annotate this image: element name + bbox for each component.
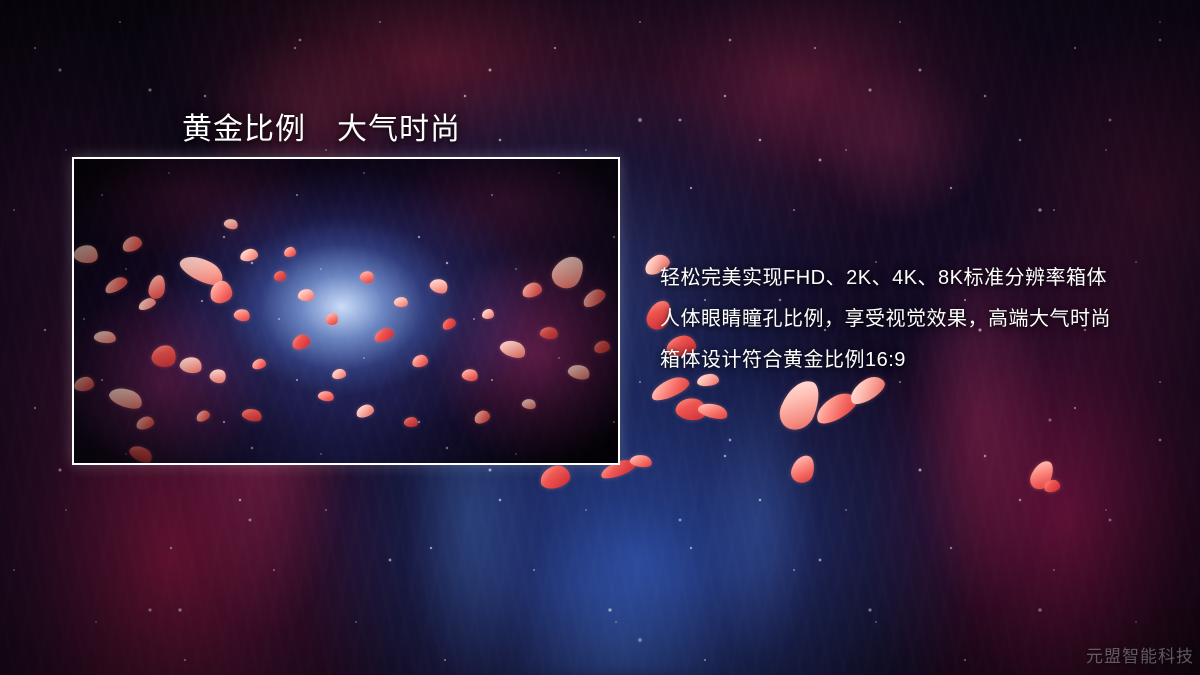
petal (538, 463, 572, 491)
body-line-3: 箱体设计符合黄金比例16:9 (660, 340, 1180, 381)
panel-vignette (74, 159, 618, 463)
petal (789, 453, 817, 485)
petal (774, 375, 825, 436)
company-watermark: 元盟智能科技 (1086, 642, 1194, 667)
presentation-slide: 黄金比例 大气时尚 轻松完美实现FHD、2K、4K、8K标准分辨率箱体 人体眼睛… (0, 0, 1200, 675)
panel-content (74, 159, 618, 463)
slide-title: 黄金比例 大气时尚 (182, 104, 461, 148)
body-line-1: 轻松完美实现FHD、2K、4K、8K标准分辨率箱体 (660, 258, 1180, 299)
display-panel-preview[interactable] (72, 157, 620, 465)
body-line-2: 人体眼睛瞳孔比例，享受视觉效果，高端大气时尚 (660, 299, 1180, 340)
body-text-block: 轻松完美实现FHD、2K、4K、8K标准分辨率箱体 人体眼睛瞳孔比例，享受视觉效… (660, 258, 1180, 381)
